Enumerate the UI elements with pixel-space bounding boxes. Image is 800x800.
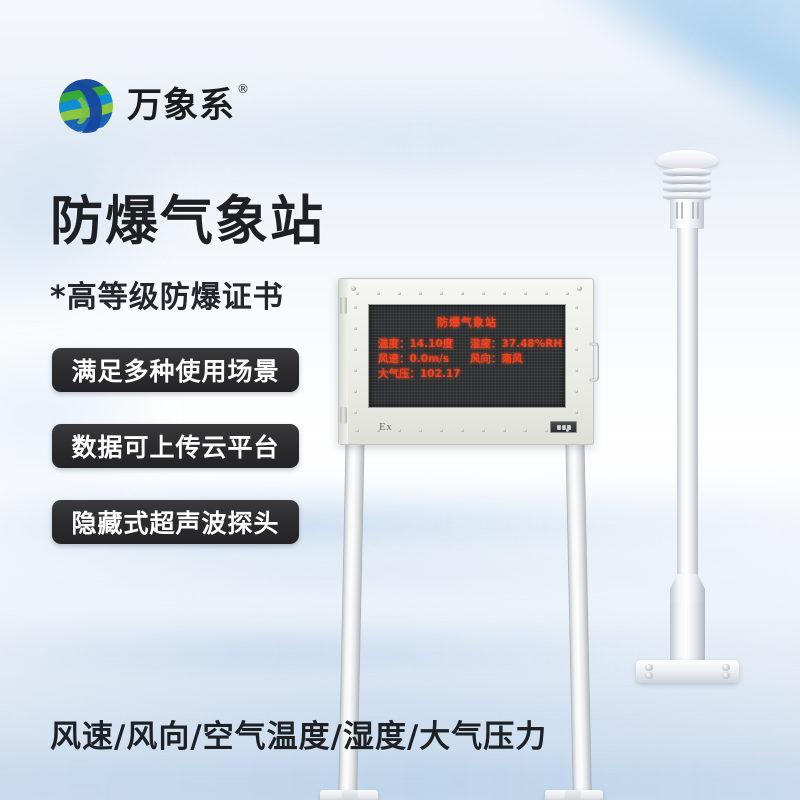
feature-pill-1-label: 满足多种使用场景 bbox=[71, 352, 279, 388]
enclosure-bolt bbox=[354, 369, 357, 372]
reading-air-pressure: 大气压：102.17 bbox=[378, 367, 470, 382]
enclosure-bolt bbox=[440, 292, 443, 295]
flange-bolt-hole bbox=[722, 672, 730, 679]
enclosure-bolt bbox=[377, 292, 380, 295]
mounting-pole bbox=[677, 228, 698, 578]
enclosure-bolt bbox=[419, 429, 422, 432]
radiation-shield-ring bbox=[663, 176, 711, 184]
stand-foot-right bbox=[545, 790, 603, 800]
feature-pill-3-label: 隐藏式超声波探头 bbox=[71, 504, 279, 540]
brand-logo: 万象系 ® bbox=[55, 75, 235, 137]
foot-cap bbox=[565, 790, 581, 800]
page-subtitle: *高等级防爆证书 bbox=[50, 283, 284, 313]
enclosure-bolt bbox=[524, 429, 527, 432]
foot-cap bbox=[342, 790, 358, 800]
explosion-proof-enclosure: 防爆气象站 温度：14.10度 湿度：37.48%RH 风速：0.0m/s 风向… bbox=[338, 278, 594, 445]
product-banner: 万象系 ® 防爆气象站 *高等级防爆证书 满足多种使用场景 数据可上传云平台 隐… bbox=[0, 0, 800, 800]
stand-foot-left bbox=[320, 790, 378, 800]
hinge-top bbox=[340, 297, 347, 314]
enclosure-bolt bbox=[575, 327, 578, 330]
reading-row: 温度：14.10度 湿度：37.48%RH bbox=[378, 337, 565, 352]
reading-wind-direction: 风向：南风 bbox=[470, 352, 523, 367]
enclosure-bolt bbox=[575, 411, 578, 414]
feature-pill-2-label: 数据可上传云平台 bbox=[71, 428, 279, 464]
enclosure-bolt bbox=[545, 429, 548, 432]
page-title: 防爆气象站 bbox=[50, 195, 325, 248]
led-display-screen: 防爆气象站 温度：14.10度 湿度：37.48%RH 风速：0.0m/s 风向… bbox=[368, 304, 566, 408]
enclosure-bolt bbox=[440, 429, 443, 432]
hinge-bottom bbox=[340, 407, 347, 424]
brand-name: 万象系 ® bbox=[127, 89, 235, 124]
enclosure-bolt bbox=[482, 429, 485, 432]
enclosure-bolt bbox=[575, 369, 578, 372]
ultrasonic-weather-sensor-assembly bbox=[625, 150, 755, 670]
base-flange-plate bbox=[636, 660, 739, 683]
bottom-tagline: 风速/风向/空气温度/湿度/大气压力 bbox=[50, 722, 547, 753]
display-title: 防爆气象站 bbox=[369, 314, 565, 330]
enclosure-bolt bbox=[482, 292, 485, 295]
feature-pill-2: 数据可上传云平台 bbox=[52, 424, 299, 468]
globe-swirl-logo-icon bbox=[55, 75, 117, 137]
enclosure-bolt bbox=[398, 429, 401, 432]
enclosure-bolt bbox=[354, 306, 357, 309]
reading-wind-speed: 风速：0.0m/s bbox=[378, 352, 470, 367]
enclosure-bolt bbox=[575, 306, 578, 309]
enclosure-bolt bbox=[354, 390, 357, 393]
nameplate-dot bbox=[562, 425, 566, 430]
sensor-top-cap-icon bbox=[656, 150, 718, 169]
background-streak bbox=[0, 752, 800, 800]
enclosure-bolt bbox=[356, 292, 359, 295]
display-readings: 温度：14.10度 湿度：37.48%RH 风速：0.0m/s 风向：南风 大气… bbox=[378, 337, 565, 382]
pole-base-section bbox=[670, 602, 705, 664]
radiation-shield-ring bbox=[663, 184, 711, 192]
flange-bolt-hole bbox=[645, 664, 653, 671]
sensor-vent-slot bbox=[676, 202, 678, 219]
enclosure-bolt bbox=[398, 292, 401, 295]
feature-pill-3: 隐藏式超声波探头 bbox=[52, 500, 299, 544]
registered-mark: ® bbox=[237, 83, 250, 95]
enclosure-bolt bbox=[461, 429, 464, 432]
feature-pill-1: 满足多种使用场景 bbox=[52, 348, 299, 392]
reading-row: 风速：0.0m/s 风向：南风 bbox=[378, 352, 565, 367]
ex-certification-marking: Ex bbox=[379, 421, 392, 433]
enclosure-bolt bbox=[354, 327, 357, 330]
nameplate-dot bbox=[557, 425, 561, 430]
reading-row: 大气压：102.17 bbox=[378, 367, 565, 382]
enclosure-bolt bbox=[524, 292, 527, 295]
enclosure-bolt bbox=[461, 292, 464, 295]
sensor-vent-slot bbox=[697, 202, 699, 219]
enclosure-bolt bbox=[419, 292, 422, 295]
flange-bolt-hole bbox=[645, 672, 653, 679]
enclosure-bolt bbox=[356, 429, 359, 432]
brand-name-text: 万象系 bbox=[127, 86, 235, 126]
explosion-proof-display-station: 防爆气象站 温度：14.10度 湿度：37.48%RH 风速：0.0m/s 风向… bbox=[320, 278, 610, 668]
flange-bolt-hole bbox=[722, 664, 730, 671]
background-swoosh bbox=[335, 0, 800, 158]
enclosure-bolt bbox=[566, 429, 569, 432]
enclosure-bolt bbox=[354, 411, 357, 414]
enclosure-bolt bbox=[575, 390, 578, 393]
enclosure-bolt bbox=[503, 292, 506, 295]
enclosure-bolt bbox=[566, 292, 569, 295]
enclosure-corner-screw bbox=[351, 286, 356, 291]
sensor-vent-slot bbox=[681, 202, 683, 219]
enclosure-bolt bbox=[503, 429, 506, 432]
enclosure-bolt bbox=[575, 348, 578, 351]
stand-leg-right bbox=[565, 428, 592, 796]
enclosure-bolt bbox=[354, 348, 357, 351]
radiation-shield-ring bbox=[663, 168, 711, 176]
door-handle-icon[interactable] bbox=[589, 341, 599, 383]
enclosure-corner-screw bbox=[577, 286, 582, 291]
reading-temperature: 温度：14.10度 bbox=[378, 337, 470, 352]
nameplate-label-icon bbox=[550, 421, 577, 433]
sensor-vent-slot bbox=[692, 202, 694, 219]
reading-humidity: 湿度：37.48%RH bbox=[470, 337, 562, 352]
enclosure-bolt bbox=[377, 429, 380, 432]
enclosure-bolt bbox=[545, 292, 548, 295]
sensor-body bbox=[670, 199, 704, 229]
